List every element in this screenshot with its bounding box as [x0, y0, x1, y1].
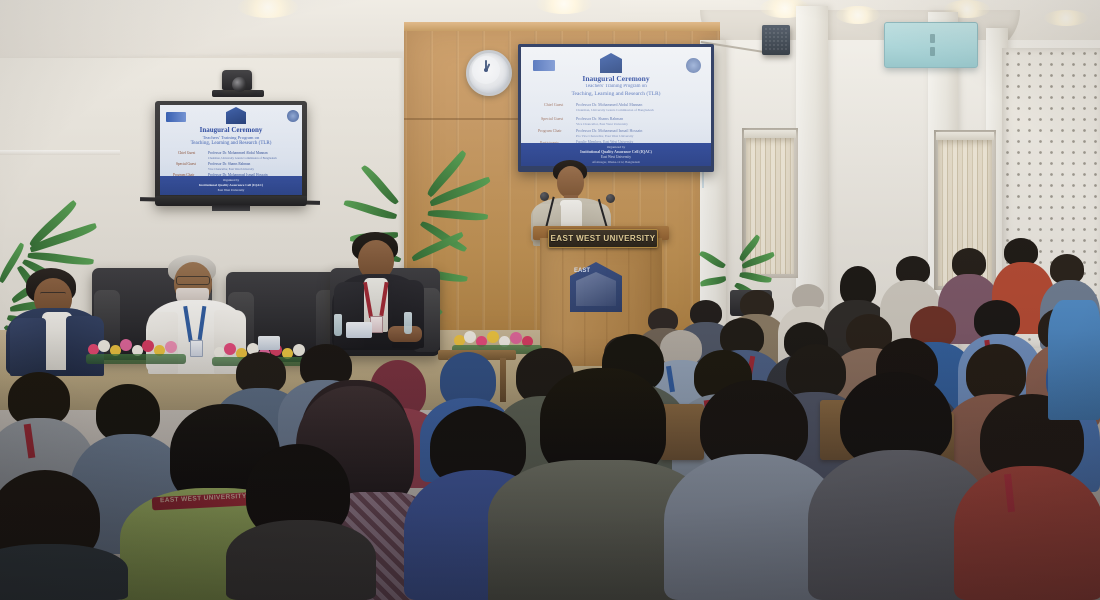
blind-headrail [936, 132, 994, 140]
ugc-seal-icon [287, 110, 299, 122]
slide-footer-line: Institutional Quality Assurance Cell (IQ… [521, 150, 711, 154]
slide-subtitle-1-big: Teachers' Training Program on [521, 84, 711, 89]
microphone [606, 194, 615, 203]
slide-footer-line: Organized by [160, 178, 302, 182]
slide-subtitle-1: Teachers' Training Program on [160, 135, 302, 140]
eyeglasses-icon [40, 292, 66, 298]
slide-row-label-big: Special Guest [541, 116, 563, 121]
ugc-seal-big [686, 58, 701, 73]
microphone [540, 192, 549, 201]
auditorium-photo: Inaugural Ceremony Teachers' Training Pr… [0, 0, 1100, 600]
ac-vent [930, 47, 935, 56]
slide-title: Inaugural Ceremony [160, 126, 302, 134]
slide-row-label-big: Program Chair [538, 128, 562, 133]
tissue-box [346, 322, 372, 338]
downlight [836, 6, 880, 24]
eyeglasses-icon [176, 276, 210, 285]
ac-vent [930, 34, 935, 43]
speaker-grille [764, 27, 788, 51]
slide-subtitle-2-big: Teaching, Learning and Research (TLR) [521, 91, 711, 97]
slide-footer-line: Aftabnagar, Dhaka-1212, Bangladesh [521, 160, 711, 164]
table-leg [500, 358, 506, 402]
slide-row-line: Professor Dr. Shams Rahman [208, 162, 250, 166]
slide-row-label-big: Chief Guest [544, 102, 563, 107]
water-bottle [404, 312, 412, 334]
podium-plaque: EAST WEST UNIVERSITY [548, 229, 658, 248]
clock-center-pin [484, 68, 488, 72]
slide-row-label: Special Guest [176, 162, 196, 166]
id-badge [190, 340, 203, 357]
downlight [1044, 10, 1088, 26]
slide-footer-line: East West University [521, 155, 711, 159]
slide-row-line-big: Chairman, University Grants Commission o… [576, 108, 654, 112]
slide-row-line-big: Pro Vice Chancellor, East West Universit… [576, 134, 633, 138]
wall-reveal-line [0, 150, 120, 155]
slide-row-label: Chief Guest [178, 151, 195, 155]
slide-title-big: Inaugural Ceremony [521, 74, 711, 83]
slide-footer-line: Institutional Quality Assurance Cell (IQ… [160, 183, 302, 187]
slide-footer-line: Organized by [521, 145, 711, 149]
camera-lens-icon [232, 77, 247, 92]
iqac-logo-big [533, 60, 555, 71]
slide-row-line: Professor Dr. Mohammed Abdul Mannan [208, 151, 268, 155]
slide-row-line: Vice Chancellor, East West University [208, 167, 254, 171]
water-bottle [334, 314, 342, 336]
slide-subtitle-2: Teaching, Learning and Research (TLR) [160, 141, 302, 146]
tissue-box [258, 336, 280, 350]
slide-footer-line: East West University [160, 188, 302, 192]
monitor-stand [212, 205, 250, 211]
podium-plaque-text: EAST WEST UNIVERSITY [551, 234, 656, 243]
blind-headrail [744, 130, 796, 138]
air-conditioner-unit [884, 22, 978, 68]
crest-label: EAST [574, 268, 590, 274]
slide-row-line-big: Professor Dr. Mohammad Ismail Hossain [576, 128, 642, 133]
slide-row-line-big: Vice Chancellor, East West University [576, 122, 628, 126]
slide-row-line: Chairman, University Grants Commission o… [208, 156, 277, 160]
wood-panel-top-trim [404, 22, 720, 31]
flower-arrangement-left [86, 336, 186, 364]
slide-row-line-big: Professor Dr. Mohammed Abdul Mannan [576, 102, 642, 107]
auditorium-chair [660, 404, 704, 460]
iqac-logo-icon [166, 112, 186, 122]
audience-blue-kurta [1048, 300, 1100, 420]
slide-row-line-big: Professor Dr. Shams Rahman [576, 116, 623, 121]
